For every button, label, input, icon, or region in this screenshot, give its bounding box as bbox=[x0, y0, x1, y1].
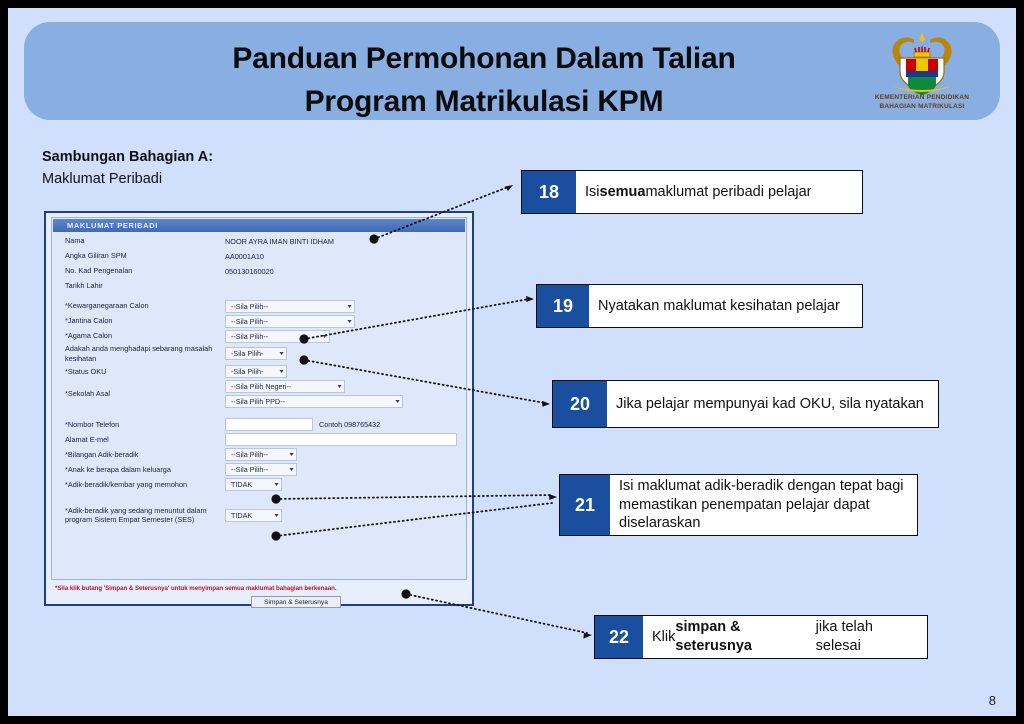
callout-20-text-pre: Jika pelajar mempunyai kad OKU, sila nya… bbox=[616, 395, 924, 414]
field-row-masalah-kesihatan: Adakah anda menghadapi sebarang masalah … bbox=[53, 344, 465, 364]
field-row-angka-giliran: Angka Giliran SPM AA0001A10 bbox=[53, 249, 465, 263]
callout-22-text: Klik simpan & seterusnya jika telah sele… bbox=[643, 616, 927, 658]
select-adik-beradik-ses-value: TIDAK bbox=[231, 511, 252, 520]
chevron-down-icon: ▾ bbox=[395, 398, 399, 405]
select-masalah-kesihatan[interactable]: -Sila Pilih- ▾ bbox=[225, 347, 287, 360]
chevron-down-icon: ▾ bbox=[289, 451, 293, 458]
section-heading-sub: Maklumat Peribadi bbox=[42, 168, 402, 190]
label-nama: Nama bbox=[53, 236, 225, 246]
callout-21-text: Isi maklumat adik-beradik dengan tepat b… bbox=[610, 475, 917, 535]
label-sekolah-asal: *Sekolah Asal bbox=[53, 389, 225, 399]
select-kewarganegaraan[interactable]: --Sila Pilih-- ▾ bbox=[225, 300, 355, 313]
hint-nombor-telefon: Contoh 098765432 bbox=[319, 420, 380, 429]
title-line-1: Panduan Permohonan Dalam Talian bbox=[232, 42, 735, 75]
select-adik-beradik-kembar-value: TIDAK bbox=[231, 480, 252, 489]
connector-arrow bbox=[505, 185, 513, 191]
label-tarikh-lahir: Tarikh Lahir bbox=[53, 281, 225, 291]
callout-18-number: 18 bbox=[522, 171, 576, 213]
select-bilangan-adik-beradik[interactable]: --Sila Pilih-- ▾ bbox=[225, 448, 297, 461]
section-heading-bold: Sambungan Bahagian A: bbox=[42, 146, 402, 168]
label-bilangan-adik-beradik: *Bilangan Adik-beradik bbox=[53, 450, 225, 460]
select-adik-beradik-kembar[interactable]: TIDAK ▾ bbox=[225, 478, 282, 491]
sekolah-asal-controls: --Sila Pilih Negeri-- ▾ --Sila Pilih PPD… bbox=[225, 380, 403, 408]
value-nama: NOOR AYRA IMAN BINTI IDHAM bbox=[225, 237, 334, 246]
select-negeri-value: --Sila Pilih Negeri-- bbox=[231, 382, 291, 391]
field-row-adik-beradik-kembar: *Adik-beradik/kembar yang memohon TIDAK … bbox=[53, 478, 465, 492]
callout-18-text-bold: semua bbox=[600, 183, 646, 202]
callout-20-text: Jika pelajar mempunyai kad OKU, sila nya… bbox=[607, 381, 938, 427]
callout-22-text-bold: simpan & seterusnya bbox=[675, 618, 815, 655]
callout-20[interactable]: 20 Jika pelajar mempunyai kad OKU, sila … bbox=[552, 380, 939, 428]
select-anak-ke-berapa[interactable]: --Sila Pilih-- ▾ bbox=[225, 463, 297, 476]
select-agama-value: --Sila Pilih-- bbox=[231, 332, 268, 341]
logo-caption-line-2: BAHAGIAN MATRIKULASI bbox=[879, 103, 964, 110]
label-status-oku: *Status OKU bbox=[53, 367, 225, 377]
select-agama[interactable]: --Sila Pilih-- ▾ bbox=[225, 330, 330, 343]
simpan-seterusnya-button[interactable]: Simpan & Seterusnya bbox=[251, 596, 341, 608]
field-row-kad-pengenalan: No. Kad Pengenalan 050130160020 bbox=[53, 264, 465, 278]
value-kad-pengenalan: 050130160020 bbox=[225, 267, 274, 276]
select-masalah-kesihatan-value: -Sila Pilih- bbox=[231, 349, 263, 358]
callout-22-text-post: jika telah selesai bbox=[816, 618, 918, 655]
callout-18-text-pre: Isi bbox=[585, 183, 600, 202]
connector-arrow bbox=[542, 401, 550, 407]
field-row-tarikh-lahir: Tarikh Lahir bbox=[53, 279, 465, 293]
field-row-nombor-telefon: *Nombor Telefon Contoh 098765432 bbox=[53, 418, 465, 432]
label-agama: *Agama Calon bbox=[53, 331, 225, 341]
callout-18[interactable]: 18 Isi semua maklumat peribadi pelajar bbox=[521, 170, 863, 214]
label-nombor-telefon: *Nombor Telefon bbox=[53, 420, 225, 430]
label-kewarganegaraan: *Kewarganegaraan Calon bbox=[53, 301, 225, 311]
connector-arrow bbox=[549, 494, 557, 500]
chevron-down-icon: ▾ bbox=[279, 368, 283, 375]
chevron-down-icon: ▾ bbox=[279, 350, 283, 357]
callout-19-number: 19 bbox=[537, 285, 589, 327]
malaysia-coat-of-arms-icon bbox=[862, 28, 982, 98]
field-row-bilangan-adik-beradik: *Bilangan Adik-beradik --Sila Pilih-- ▾ bbox=[53, 448, 465, 462]
chevron-down-icon: ▾ bbox=[322, 333, 326, 340]
select-negeri[interactable]: --Sila Pilih Negeri-- ▾ bbox=[225, 380, 345, 393]
form-note: *Sila klik butang 'Simpan & Seterusnya' … bbox=[55, 585, 455, 593]
field-row-alamat-emel: Alamat E-mel bbox=[53, 433, 465, 447]
select-status-oku-value: -Sila Pilih- bbox=[231, 367, 263, 376]
form-titlebar: MAKLUMAT PERIBADI bbox=[53, 219, 465, 232]
select-jantina-value: --Sila Pilih-- bbox=[231, 317, 268, 326]
ministry-logo: KEMENTERIAN PENDIDIKAN BAHAGIAN MATRIKUL… bbox=[862, 28, 982, 116]
field-row-agama: *Agama Calon --Sila Pilih-- ▾ bbox=[53, 329, 465, 343]
value-angka-giliran: AA0001A10 bbox=[225, 252, 264, 261]
callout-19[interactable]: 19 Nyatakan maklumat kesihatan pelajar bbox=[536, 284, 863, 328]
title-line-2: Program Matrikulasi KPM bbox=[84, 81, 884, 124]
field-row-nama: Nama NOOR AYRA IMAN BINTI IDHAM bbox=[53, 234, 465, 248]
page-title: Panduan Permohonan Dalam Talian Program … bbox=[84, 38, 884, 123]
slide-canvas: Panduan Permohonan Dalam Talian Program … bbox=[8, 8, 1016, 716]
callout-21-number: 21 bbox=[560, 475, 610, 535]
select-kewarganegaraan-value: --Sila Pilih-- bbox=[231, 302, 268, 311]
callout-21[interactable]: 21 Isi maklumat adik-beradik dengan tepa… bbox=[559, 474, 918, 536]
input-nombor-telefon[interactable] bbox=[225, 418, 313, 431]
callout-20-number: 20 bbox=[553, 381, 607, 427]
chevron-down-icon: ▾ bbox=[337, 383, 341, 390]
input-alamat-emel[interactable] bbox=[225, 433, 457, 446]
form-panel: MAKLUMAT PERIBADI Nama NOOR AYRA IMAN BI… bbox=[51, 217, 467, 580]
label-kad-pengenalan: No. Kad Pengenalan bbox=[53, 266, 225, 276]
section-heading: Sambungan Bahagian A: Maklumat Peribadi bbox=[42, 146, 402, 191]
callout-18-text-post: maklumat peribadi pelajar bbox=[645, 183, 811, 202]
logo-caption: KEMENTERIAN PENDIDIKAN BAHAGIAN MATRIKUL… bbox=[862, 94, 982, 112]
label-jantina: *Jantina Calon bbox=[53, 316, 225, 326]
callout-21-text-pre: Isi maklumat adik-beradik dengan tepat b… bbox=[619, 477, 908, 533]
chevron-down-icon: ▾ bbox=[274, 512, 278, 519]
page-number: 8 bbox=[989, 693, 996, 708]
select-ppd[interactable]: --Sila Pilih PPD-- ▾ bbox=[225, 395, 403, 408]
label-angka-giliran: Angka Giliran SPM bbox=[53, 251, 225, 261]
chevron-down-icon: ▾ bbox=[347, 318, 351, 325]
form-screenshot: MAKLUMAT PERIBADI Nama NOOR AYRA IMAN BI… bbox=[44, 211, 474, 606]
callout-22-number: 22 bbox=[595, 616, 643, 658]
select-ppd-value: --Sila Pilih PPD-- bbox=[231, 397, 285, 406]
select-bilangan-adik-beradik-value: --Sila Pilih-- bbox=[231, 450, 268, 459]
field-row-jantina: *Jantina Calon --Sila Pilih-- ▾ bbox=[53, 314, 465, 328]
connector-arrow bbox=[526, 296, 534, 302]
field-row-kewarganegaraan: *Kewarganegaraan Calon --Sila Pilih-- ▾ bbox=[53, 299, 465, 313]
connector-arrow bbox=[583, 633, 592, 639]
field-row-status-oku: *Status OKU -Sila Pilih- ▾ bbox=[53, 365, 465, 379]
callout-18-text: Isi semua maklumat peribadi pelajar bbox=[576, 171, 862, 213]
field-row-adik-beradik-ses: *Adik-beradik yang sedang menuntut dalam… bbox=[53, 506, 465, 526]
callout-19-text: Nyatakan maklumat kesihatan pelajar bbox=[589, 285, 862, 327]
callout-22[interactable]: 22 Klik simpan & seterusnya jika telah s… bbox=[594, 615, 928, 659]
title-banner: Panduan Permohonan Dalam Talian Program … bbox=[24, 22, 1000, 120]
chevron-down-icon: ▾ bbox=[347, 303, 351, 310]
select-adik-beradik-ses[interactable]: TIDAK ▾ bbox=[225, 509, 282, 522]
label-adik-beradik-ses: *Adik-beradik yang sedang menuntut dalam… bbox=[53, 506, 225, 526]
form-fields: Nama NOOR AYRA IMAN BINTI IDHAM Angka Gi… bbox=[53, 234, 465, 526]
field-row-sekolah-asal: *Sekolah Asal --Sila Pilih Negeri-- ▾ --… bbox=[53, 380, 465, 408]
label-masalah-kesihatan: Adakah anda menghadapi sebarang masalah … bbox=[53, 344, 225, 364]
logo-caption-line-1: KEMENTERIAN PENDIDIKAN bbox=[875, 94, 969, 101]
callout-22-text-pre: Klik bbox=[652, 628, 675, 647]
label-anak-ke-berapa: *Anak ke berapa dalam keluarga bbox=[53, 465, 225, 475]
field-row-anak-ke-berapa: *Anak ke berapa dalam keluarga --Sila Pi… bbox=[53, 463, 465, 477]
select-jantina[interactable]: --Sila Pilih-- ▾ bbox=[225, 315, 355, 328]
chevron-down-icon: ▾ bbox=[289, 466, 293, 473]
select-anak-ke-berapa-value: --Sila Pilih-- bbox=[231, 465, 268, 474]
callout-19-text-pre: Nyatakan maklumat kesihatan pelajar bbox=[598, 297, 840, 316]
label-alamat-emel: Alamat E-mel bbox=[53, 435, 225, 445]
select-status-oku[interactable]: -Sila Pilih- ▾ bbox=[225, 365, 287, 378]
chevron-down-icon: ▾ bbox=[274, 481, 278, 488]
label-adik-beradik-kembar: *Adik-beradik/kembar yang memohon bbox=[53, 480, 225, 490]
